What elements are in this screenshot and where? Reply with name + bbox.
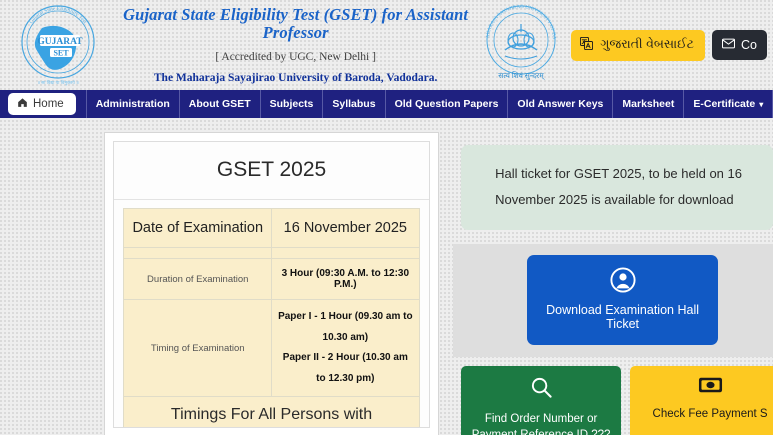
- exam-duration-value: 3 Hour (09:30 A.M. to 12:30 P.M.): [272, 259, 420, 300]
- notice-line-1: Hall ticket for GSET 2025, to be held on…: [495, 161, 759, 187]
- nav-item-about-gset[interactable]: About GSET: [179, 90, 260, 118]
- nav-label: Old Answer Keys: [517, 98, 603, 110]
- nav-label: About GSET: [189, 98, 251, 110]
- nav-home-label: Home: [33, 98, 64, 110]
- exam-timing-label: Timing of Examination: [124, 300, 272, 397]
- pwd-timing-note: Timings For All Persons with Disabilitie…: [124, 397, 419, 429]
- exam-date-label: Date of Examination: [124, 209, 272, 248]
- gujarati-website-label: ગુજરાતી વેબસાઈટ: [600, 37, 694, 52]
- nav-label: Subjects: [270, 98, 314, 110]
- home-icon: [17, 97, 28, 111]
- table-row-spacer: [124, 248, 419, 259]
- accreditation-text: [ Accredited by UGC, New Delhi ]: [116, 51, 475, 63]
- page-title: Gujarat State Eligibility Test (GSET) fo…: [116, 6, 475, 42]
- svg-text:॥ सा विद्या या विमुक्तये ॥: ॥ सा विद्या या विमुक्तये ॥: [37, 79, 79, 86]
- hall-ticket-notice: Hall ticket for GSET 2025, to be held on…: [461, 145, 773, 230]
- search-icon: [467, 376, 615, 405]
- exam-duration-label: Duration of Examination: [124, 259, 272, 300]
- nav-label: Marksheet: [622, 98, 674, 110]
- contact-button-label: Co: [741, 38, 757, 52]
- nav-item-old-answer-keys[interactable]: Old Answer Keys: [507, 90, 612, 118]
- spacer-cell: [124, 248, 272, 259]
- table-row: Duration of Examination 3 Hour (09:30 A.…: [124, 259, 419, 300]
- exam-details-panel: GSET 2025 Date of Examination 16 Novembe…: [104, 132, 439, 435]
- svg-text:Gujarat State Eligibility Test: Gujarat State Eligibility Test: [28, 6, 87, 25]
- download-hall-ticket-label: Download Examination Hall Ticket: [535, 303, 710, 331]
- nav-item-administration[interactable]: Administration: [86, 90, 179, 118]
- find-order-label-2: Payment Reference ID ???: [467, 428, 615, 435]
- gujarati-website-button[interactable]: ગુજરાતી વેબસાઈટ: [571, 30, 705, 61]
- exam-date-value: 16 November 2025: [272, 209, 420, 248]
- translate-icon: [580, 37, 593, 53]
- find-order-number-button[interactable]: Find Order Number or Payment Reference I…: [461, 366, 621, 435]
- gset-emblem-logo: GUJARAT SET Gujarat State Eligibility Te…: [6, 2, 110, 88]
- spacer-cell: [272, 248, 420, 259]
- header-title-block: Gujarat State Eligibility Test (GSET) fo…: [110, 6, 475, 84]
- msu-baroda-emblem-logo: THE MAHARAJA SAYAJIRAO UNIVERSITY OF BAR…: [475, 2, 567, 88]
- contact-button[interactable]: Co: [712, 30, 767, 60]
- action-buttons-row: Find Order Number or Payment Reference I…: [453, 366, 773, 435]
- table-row: Date of Examination 16 November 2025: [124, 209, 419, 248]
- chevron-down-icon: ▾: [759, 100, 763, 109]
- nav-item-e-certificate[interactable]: E-Certificate ▾: [683, 90, 772, 118]
- nav-item-syllabus[interactable]: Syllabus: [322, 90, 384, 118]
- check-fee-payment-button[interactable]: Check Fee Payment S: [630, 366, 773, 435]
- nav-item-old-question-papers[interactable]: Old Question Papers: [385, 90, 508, 118]
- svg-text:SET: SET: [53, 49, 69, 58]
- university-name: The Maharaja Sayajirao University of Bar…: [116, 72, 475, 84]
- banknote-icon: [636, 376, 773, 400]
- nav-label: Syllabus: [332, 98, 375, 110]
- nav-item-subjects[interactable]: Subjects: [260, 90, 323, 118]
- nav-item-marksheet[interactable]: Marksheet: [612, 90, 683, 118]
- site-header: GUJARAT SET Gujarat State Eligibility Te…: [0, 0, 773, 90]
- exam-timing-value: Paper I - 1 Hour (09.30 am to 10.30 am) …: [272, 300, 420, 397]
- header-action-buttons: ગુજરાતી વેબસાઈટ Co: [571, 30, 767, 61]
- gset-2025-card: GSET 2025 Date of Examination 16 Novembe…: [113, 141, 430, 428]
- notice-line-2: November 2025 is available for download: [495, 187, 759, 213]
- paper-1-timing: Paper I - 1 Hour (09.30 am to 10.30 am): [278, 307, 413, 348]
- table-row: Timing of Examination Paper I - 1 Hour (…: [124, 300, 419, 397]
- exam-schedule-table: Date of Examination 16 November 2025 Dur…: [123, 208, 419, 428]
- card-title: GSET 2025: [114, 142, 429, 200]
- check-fee-label-1: Check Fee Payment S: [636, 407, 773, 423]
- nav-label: Administration: [96, 98, 170, 110]
- table-row: Timings For All Persons with Disabilitie…: [124, 397, 419, 429]
- svg-text:GUJARAT: GUJARAT: [37, 37, 83, 47]
- main-content: GSET 2025 Date of Examination 16 Novembe…: [0, 118, 773, 435]
- main-navigation: Home Administration About GSET Subjects …: [0, 90, 773, 118]
- paper-2-timing: Paper II - 2 Hour (10.30 am to 12.30 pm): [278, 348, 413, 389]
- envelope-icon: [722, 38, 735, 52]
- user-circle-icon: [535, 267, 710, 296]
- sidebar-item-home[interactable]: Home: [8, 93, 76, 115]
- download-hall-ticket-button[interactable]: Download Examination Hall Ticket: [527, 255, 718, 345]
- download-button-band: Download Examination Hall Ticket: [453, 244, 773, 357]
- nav-label: Old Question Papers: [395, 98, 499, 110]
- svg-text:सत्यं शिवं सुन्दरम्: सत्यं शिवं सुन्दरम्: [499, 71, 545, 81]
- announcements-panel: Hall ticket for GSET 2025, to be held on…: [453, 132, 773, 435]
- find-order-label-1: Find Order Number or: [467, 412, 615, 428]
- nav-label: E-Certificate: [693, 98, 755, 110]
